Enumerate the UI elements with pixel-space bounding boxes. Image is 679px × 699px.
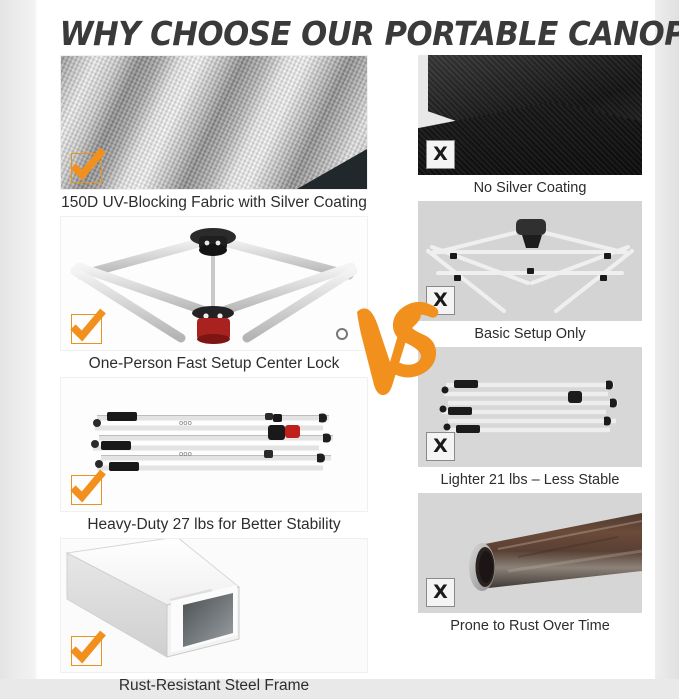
con-caption-4: Prone to Rust Over Time	[418, 613, 642, 639]
check-icon	[71, 636, 102, 666]
x-icon: X	[426, 432, 455, 461]
x-icon: X	[426, 140, 455, 169]
con-row-2: X Basic Setup Only	[418, 201, 642, 347]
con-image-rusty-pipe: X	[418, 493, 642, 613]
pro-row-4: Rust-Resistant Steel Frame	[60, 538, 368, 699]
con-image-black-fabric: X	[418, 55, 642, 175]
con-caption-3: Lighter 21 lbs – Less Stable	[418, 467, 642, 493]
con-row-1: X No Silver Coating	[418, 55, 642, 201]
con-row-4: X Prone to Rust Over Time	[418, 493, 642, 639]
con-row-3: X Lighter 21 lbs – Less Stable	[418, 347, 642, 493]
check-icon	[71, 475, 102, 505]
pro-image-folded-poles: oooooo	[60, 377, 368, 512]
pro-image-canopy-frame	[60, 216, 368, 351]
pro-image-square-tube	[60, 538, 368, 673]
cons-column: X No Silver Coating	[418, 55, 642, 639]
x-icon: X	[426, 578, 455, 607]
con-caption-1: No Silver Coating	[418, 175, 642, 201]
x-icon: X	[426, 286, 455, 315]
pro-row-2: One-Person Fast Setup Center Lock	[60, 216, 368, 377]
pro-row-1: 150D UV-Blocking Fabric with Silver Coat…	[60, 55, 368, 216]
con-caption-2: Basic Setup Only	[418, 321, 642, 347]
pro-caption-4: Rust-Resistant Steel Frame	[60, 673, 368, 699]
con-image-canopy-frame: X	[418, 201, 642, 321]
pro-caption-3: Heavy-Duty 27 lbs for Better Stability	[60, 512, 368, 538]
pros-column: 150D UV-Blocking Fabric with Silver Coat…	[60, 55, 368, 699]
check-icon	[71, 153, 102, 183]
svg-text:ooo: ooo	[179, 450, 192, 458]
pro-image-silver-fabric	[60, 55, 368, 190]
pro-caption-2: One-Person Fast Setup Center Lock	[60, 351, 368, 377]
check-icon	[71, 314, 102, 344]
page-title: WHY CHOOSE OUR PORTABLE CANOPY?	[60, 14, 634, 54]
pro-row-3: oooooo Heavy-Duty 27 lbs for Better Stab…	[60, 377, 368, 538]
svg-text:ooo: ooo	[179, 419, 192, 427]
pro-caption-1: 150D UV-Blocking Fabric with Silver Coat…	[60, 190, 368, 216]
con-image-folded-poles: X	[418, 347, 642, 467]
